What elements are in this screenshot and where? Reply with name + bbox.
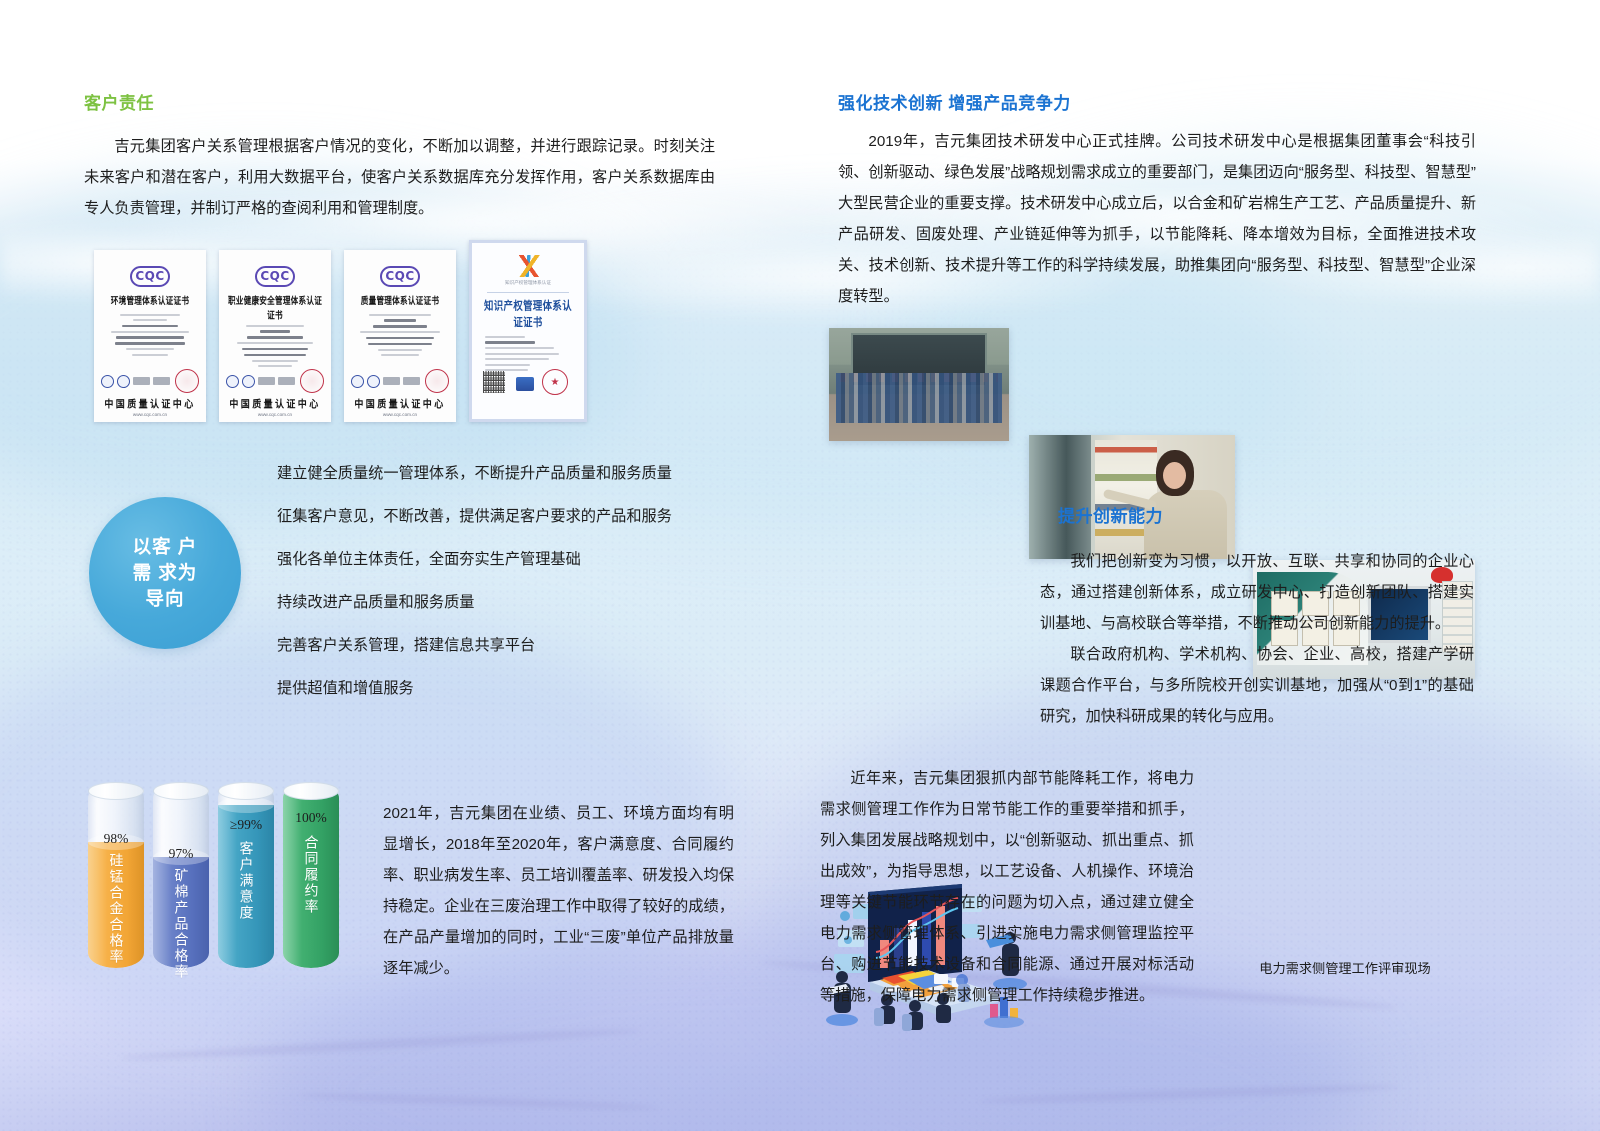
- red-stamp-icon: [425, 369, 449, 393]
- list-item: 完善客户关系管理，搭建信息共享平台: [277, 635, 717, 657]
- paragraph-text: 2019年，吉元集团技术研发中心正式挂牌。公司技术研发中心是根据集团董事会“科技…: [838, 126, 1476, 312]
- bar-category-label: 矿棉产品合格率: [172, 868, 191, 980]
- bar-category-wrap: 合同履约率: [283, 835, 339, 915]
- cylinder-top-cap: [153, 782, 209, 800]
- innovation-capability-heading: 提升创新能力: [1058, 502, 1163, 527]
- signature-mark-icon: [153, 377, 170, 385]
- paragraph-text: 我们把创新变为习惯，以开放、互联、共享和协同的企业心态，通过搭建创新体系，成立研…: [1040, 546, 1474, 639]
- iaf-seal-icon: [351, 375, 364, 388]
- ip-certificate-subtitle: 知识产权管理体系认证: [481, 280, 575, 286]
- certificates-strip: CQC 环境管理体系认证证书 中国质量认: [94, 240, 587, 422]
- customer-orientation-badge: 以客 户 需 求为 导向: [89, 497, 241, 649]
- list-item: 建立健全质量统一管理体系，不断提升产品质量和服务质量: [277, 463, 717, 485]
- red-stamp-icon: [300, 369, 324, 393]
- certificate-issuer: 中国质量认证中心: [219, 396, 331, 411]
- customer-responsibility-heading: 客户责任: [84, 89, 154, 114]
- brush-stroke: [120, 1026, 640, 1062]
- performance-cylinder-chart: 98% 硅锰合金合格率 97% 矿棉产品合格率 ≥99% 客户满意度: [88, 783, 339, 968]
- bar-category-wrap: 矿棉产品合格率: [153, 868, 209, 980]
- bar-category-label: 客户满意度: [237, 841, 256, 921]
- cqc-logo-icon: CQC: [130, 266, 170, 287]
- commitments-list: 建立健全质量统一管理体系，不断提升产品质量和服务质量 征集客户意见，不断改善，提…: [277, 463, 717, 721]
- cqc-logo-icon: CQC: [380, 266, 420, 287]
- cylinder-top-cap: [283, 782, 339, 800]
- ip-logo-icon: [515, 255, 541, 277]
- ip-certificate-title: 知识产权管理体系认证证书: [481, 296, 575, 330]
- certificate-body-lines: [226, 325, 324, 367]
- accreditation-mark-icon: [383, 377, 400, 385]
- cqc-logo-icon: CQC: [255, 266, 295, 287]
- certificate-occupational-health: CQC 职业健康安全管理体系认证证书 中: [219, 250, 331, 422]
- brush-stroke: [300, 1092, 660, 1112]
- paragraph-text: 联合政府机构、学术机构、协会、企业、高校，搭建产学研课题合作平台，与多所院校开创…: [1040, 639, 1474, 732]
- paragraph-text: 吉元集团客户关系管理根据客户情况的变化，不断加以调整，并进行跟踪记录。时刻关注未…: [84, 131, 715, 224]
- certificate-url: www.cqc.com.cn: [344, 412, 456, 417]
- customer-responsibility-paragraph: 吉元集团客户关系管理根据客户情况的变化，不断加以调整，并进行跟踪记录。时刻关注未…: [84, 131, 715, 224]
- accreditation-mark-icon: [258, 377, 275, 385]
- list-item: 持续改进产品质量和服务质量: [277, 592, 717, 614]
- bar-value-label: 97%: [153, 846, 209, 862]
- group-photo: [829, 328, 1009, 441]
- bar-category-wrap: 客户满意度: [218, 841, 274, 921]
- meeting-photo-caption: 电力需求侧管理工作评审现场: [1205, 958, 1485, 977]
- tech-innovation-heading: 强化技术创新 增强产品竞争力: [838, 89, 1071, 114]
- badge-line-2: 需 求为: [133, 560, 198, 586]
- badge-line-1: 以客 户: [133, 534, 198, 560]
- chart-bar: 97% 矿棉产品合格率: [153, 783, 209, 968]
- bar-category-wrap: 硅锰合金合格率: [88, 853, 144, 965]
- iaf-seal-icon: [226, 375, 239, 388]
- certificate-quality: CQC 质量管理体系认证证书 中国质量认: [344, 250, 456, 422]
- list-item: 提供超值和增值服务: [277, 678, 717, 700]
- certificate-seals: [94, 369, 206, 393]
- cnas-seal-icon: [117, 375, 130, 388]
- paragraph-text: 2021年，吉元集团在业绩、员工、环境方面均有明显增长，2018年至2020年，…: [383, 798, 734, 984]
- red-stamp-icon: ★: [542, 369, 568, 395]
- certificate-body-lines: [481, 336, 575, 371]
- bar-category-label: 合同履约率: [302, 835, 321, 915]
- certificate-title: 质量管理体系认证证书: [351, 294, 449, 308]
- certificate-url: www.cqc.com.cn: [219, 412, 331, 417]
- paragraph-text: 近年来，吉元集团狠抓内部节能降耗工作，将电力需求侧管理工作作为日常节能工作的重要…: [820, 763, 1194, 1011]
- certificate-url: www.cqc.com.cn: [94, 412, 206, 417]
- lab-woman-photo: [1029, 435, 1235, 559]
- bar-value-label: ≥99%: [218, 817, 274, 833]
- certificate-body-lines: [101, 314, 199, 356]
- signature-mark-icon: [403, 377, 420, 385]
- bar-value-label: 100%: [283, 810, 339, 826]
- certificate-footer: 中国质量认证中心 www.cqc.com.cn: [219, 369, 331, 417]
- signature-mark-icon: [278, 377, 295, 385]
- energy-management-paragraph: 近年来，吉元集团狠抓内部节能降耗工作，将电力需求侧管理工作作为日常节能工作的重要…: [820, 763, 1194, 1011]
- cylinder-top-cap: [218, 782, 274, 800]
- certificate-seals: [219, 369, 331, 393]
- chart-bar: ≥99% 客户满意度: [218, 783, 274, 968]
- bar-category-label: 硅锰合金合格率: [107, 853, 126, 965]
- accreditation-mark-icon: [133, 377, 150, 385]
- certificate-title: 环境管理体系认证证书: [101, 294, 199, 308]
- divider: [487, 292, 569, 293]
- report-page: 客户责任 吉元集团客户关系管理根据客户情况的变化，不断加以调整，并进行跟踪记录。…: [0, 0, 1600, 1131]
- brush-stroke: [980, 1083, 1400, 1106]
- list-item: 征集客户意见，不断改善，提供满足客户要求的产品和服务: [277, 506, 717, 528]
- qr-code-icon: [483, 371, 505, 393]
- glass-door: [1029, 435, 1091, 559]
- tech-innovation-paragraph: 2019年，吉元集团技术研发中心正式挂牌。公司技术研发中心是根据集团董事会“科技…: [838, 126, 1476, 312]
- iaf-seal-icon: [101, 375, 114, 388]
- certificate-footer: 中国质量认证中心 www.cqc.com.cn: [344, 369, 456, 417]
- certificate-body-lines: [351, 314, 449, 356]
- certificate-intellectual-property: 知识产权管理体系认证 知识产权管理体系认证证书 ★: [469, 240, 587, 422]
- performance-paragraph: 2021年，吉元集团在业绩、员工、环境方面均有明显增长，2018年至2020年，…: [383, 798, 734, 984]
- bar-value-label: 98%: [88, 831, 144, 847]
- person-face: [1163, 462, 1186, 489]
- chart-bar: 98% 硅锰合金合格率: [88, 783, 144, 968]
- certificate-title: 职业健康安全管理体系认证证书: [226, 294, 324, 322]
- cnas-seal-icon: [367, 375, 380, 388]
- cnas-badge-icon: [516, 377, 534, 391]
- chart-bar: 100% 合同履约率: [283, 783, 339, 968]
- list-item: 强化各单位主体责任，全面夯实生产管理基础: [277, 549, 717, 571]
- certificate-seals: [344, 369, 456, 393]
- innovation-paragraphs: 我们把创新变为习惯，以开放、互联、共享和协同的企业心态，通过搭建创新体系，成立研…: [1040, 546, 1474, 732]
- certificate-footer: 中国质量认证中心 www.cqc.com.cn: [94, 369, 206, 417]
- cnas-seal-icon: [242, 375, 255, 388]
- badge-line-3: 导向: [145, 586, 184, 612]
- certificate-environment: CQC 环境管理体系认证证书 中国质量认: [94, 250, 206, 422]
- certificate-issuer: 中国质量认证中心: [344, 396, 456, 411]
- staff-group: [836, 373, 1002, 423]
- certificate-issuer: 中国质量认证中心: [94, 396, 206, 411]
- red-stamp-icon: [175, 369, 199, 393]
- cylinder-top-cap: [88, 782, 144, 800]
